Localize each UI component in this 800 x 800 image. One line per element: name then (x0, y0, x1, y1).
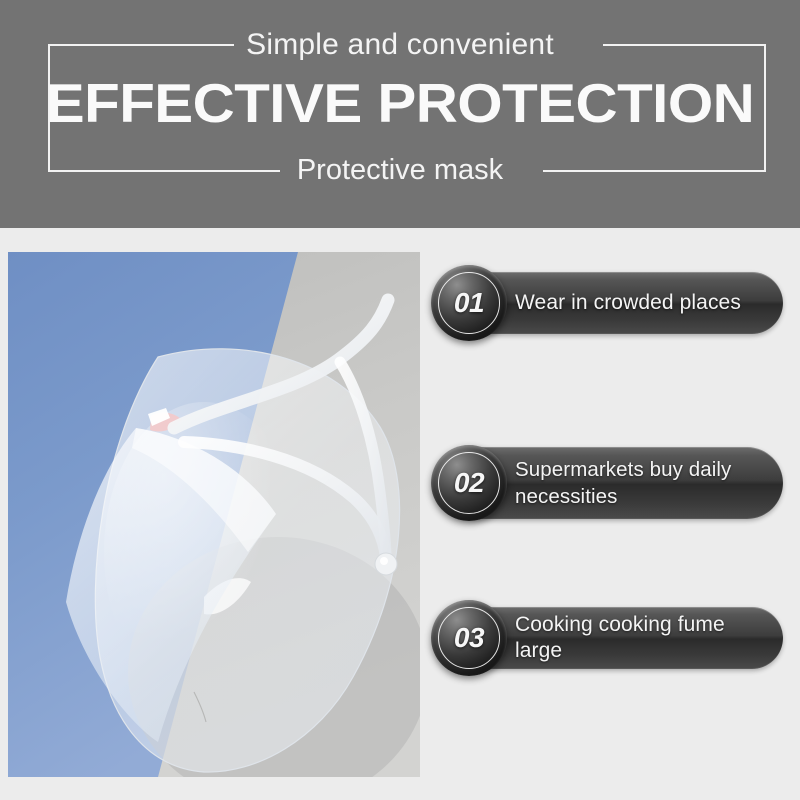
product-photo (8, 252, 420, 777)
header-banner: Simple and convenient EFFECTIVE PROTECTI… (0, 0, 800, 228)
header-headline: EFFECTIVE PROTECTION (0, 72, 800, 134)
header-subline: Protective mask (0, 152, 800, 188)
feature-badge-02[interactable]: 02 Supermarkets buy daily necessities (437, 447, 783, 519)
badge-number-01: 01 (454, 287, 484, 319)
poster-root: Simple and convenient EFFECTIVE PROTECTI… (0, 0, 800, 800)
product-photo-illustration (8, 252, 420, 777)
badge-number-circle-01: 01 (431, 265, 507, 341)
feature-badge-03[interactable]: 03 Cooking cooking fume large (437, 607, 783, 669)
badge-number-circle-02: 02 (431, 445, 507, 521)
feature-badge-01[interactable]: 01 Wear in crowded places (437, 272, 783, 334)
badge-label-03: Cooking cooking fume large (515, 612, 783, 664)
badge-number-03: 03 (454, 622, 484, 654)
badge-number-02: 02 (454, 467, 484, 499)
header-eyebrow: Simple and convenient (0, 27, 800, 63)
badge-label-01: Wear in crowded places (515, 290, 753, 316)
badge-label-02: Supermarkets buy daily necessities (515, 456, 783, 510)
badge-number-circle-03: 03 (431, 600, 507, 676)
